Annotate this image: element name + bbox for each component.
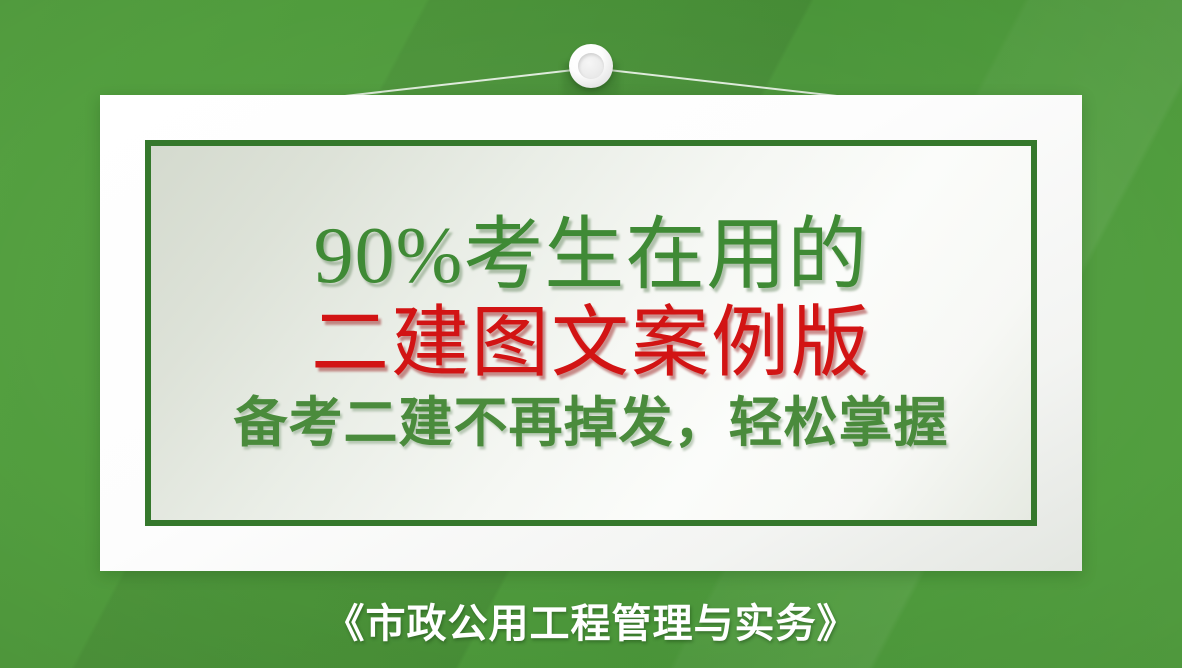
headline-line-1: 90%考生在用的	[314, 214, 869, 299]
headline-panel: 90%考生在用的 二建图文案例版 备考二建不再掉发，轻松掌握	[151, 146, 1031, 520]
headline-line-3: 备考二建不再掉发，轻松掌握	[234, 395, 949, 452]
subject-caption: 《市政公用工程管理与实务》	[325, 591, 858, 649]
poster-canvas: 90%考生在用的 二建图文案例版 备考二建不再掉发，轻松掌握 《市政公用工程管理…	[0, 0, 1182, 668]
frame-inner-border: 90%考生在用的 二建图文案例版 备考二建不再掉发，轻松掌握	[145, 140, 1037, 526]
headline-line-2: 二建图文案例版	[311, 302, 871, 385]
caption-area: 《市政公用工程管理与实务》	[0, 571, 1182, 668]
picture-frame: 90%考生在用的 二建图文案例版 备考二建不再掉发，轻松掌握	[100, 95, 1082, 571]
